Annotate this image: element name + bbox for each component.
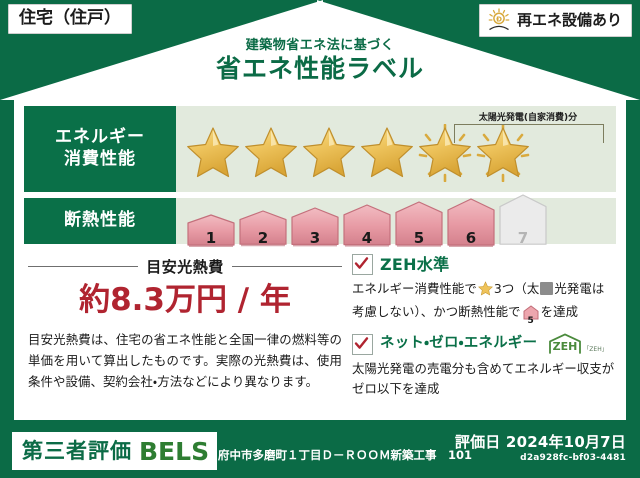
criterion-net-zero-energy: ネット・ゼロ・エネルギー ZEH 「ZEH」 太陽光発電の売電分も含めてエネルギ…	[352, 333, 616, 399]
insulation-level-achieved: 6	[446, 198, 496, 248]
cost-rule-right	[232, 266, 342, 268]
criteria-column: ZEH水準 エネルギー消費性能で 3つ（太光発電は考慮しない）、かつ断熱性能で …	[342, 254, 616, 406]
lower-section: 目安光熱費 約8.3万円 / 年 目安光熱費は、住宅の省エネ性能と全国一律の燃料…	[24, 254, 616, 406]
zeh-desc-star-text: 3つ（太	[494, 281, 539, 296]
inline-star-icon	[478, 281, 493, 302]
pv-bracket-label: 太陽光発電(自家消費)分	[452, 110, 604, 123]
energy-performance-row: エネルギー 消費性能 太陽光発電(自家消費)分	[24, 106, 616, 192]
insulation-level-achieved: 4	[342, 204, 392, 248]
energy-performance-label: エネルギー 消費性能	[24, 106, 176, 192]
footer: 第三者評価 BELS 府中市多磨町１丁目Ｄ－ＲＯＯＭ新築工事 101 評価日 2…	[0, 426, 640, 478]
insulation-level-number: 3	[290, 231, 340, 246]
evaluation-id: d2a928fc-bf03-4481	[455, 453, 626, 464]
star-filled	[242, 124, 300, 182]
energy-performance-stars-area: 太陽光発電(自家消費)分	[176, 106, 616, 192]
checkbox-net-zero-energy[interactable]	[352, 334, 373, 355]
bels-plate: 第三者評価 BELS	[12, 432, 217, 470]
energy-cost-column: 目安光熱費 約8.3万円 / 年 目安光熱費は、住宅の省エネ性能と全国一律の燃料…	[24, 254, 342, 406]
energy-cost-heading: 目安光熱費	[28, 256, 342, 277]
criterion-zeh-suijun-title: ZEH水準	[380, 256, 449, 274]
insulation-level-achieved: 5	[394, 201, 444, 248]
bels-logo: BELS	[139, 439, 209, 464]
star-filled	[358, 124, 416, 182]
insulation-performance-row: 断熱性能 1234567	[24, 198, 616, 244]
zeh-desc-part3: を達成	[541, 304, 578, 319]
title-main: 省エネ性能ラベル	[0, 55, 640, 84]
sun-icon: Ð	[486, 8, 512, 32]
insulation-level-achieved: 2	[238, 210, 288, 247]
energy-cost-note: 目安光熱費は、住宅の省エネ性能と全国一律の燃料等の単価を用いて算出したものです。…	[28, 329, 342, 393]
inline-house-level: 5	[523, 317, 539, 326]
star-filled	[300, 124, 358, 182]
insulation-level-achieved: 1	[186, 214, 236, 248]
evaluation-info: 評価日 2024年10月7日 d2a928fc-bf03-4481	[455, 434, 626, 464]
svg-text:Ð: Ð	[496, 15, 502, 23]
insulation-level-number: 2	[238, 231, 288, 246]
star-pv	[474, 124, 532, 182]
redacted-text-block	[540, 282, 553, 295]
zeh-logo-trademark: 「ZEH」	[583, 344, 607, 353]
inline-house-badge: 5	[523, 305, 539, 326]
renewable-energy-badge: Ð 再エネ設備あり	[479, 4, 632, 37]
energy-label-line2: 消費性能	[64, 149, 136, 169]
insulation-level-achieved: 3	[290, 207, 340, 247]
energy-label-line1: エネルギー	[55, 127, 145, 147]
criterion-zeh-suijun-header: ZEH水準	[352, 254, 616, 275]
title-subtitle: 建築物省エネ法に基づく	[0, 38, 640, 54]
label-title: 建築物省エネ法に基づく 省エネ性能ラベル	[0, 38, 640, 83]
insulation-performance-scale-area: 1234567	[176, 198, 616, 244]
star-rating	[184, 124, 532, 182]
property-address: 府中市多磨町１丁目Ｄ－ＲＯＯＭ新築工事 101	[218, 447, 472, 463]
zeh-desc-part1: エネルギー消費性能で	[352, 281, 477, 296]
criterion-zeh-suijun: ZEH水準 エネルギー消費性能で 3つ（太光発電は考慮しない）、かつ断熱性能で …	[352, 254, 616, 326]
main-panel: エネルギー 消費性能 太陽光発電(自家消費)分 断熱性能 1234567	[14, 98, 626, 420]
zeh-logo-icon: ZEH 「ZEH」	[548, 333, 607, 355]
energy-cost-value: 約8.3万円 / 年	[28, 281, 342, 320]
house-type-badge: 住宅（住戸）	[8, 4, 132, 34]
insulation-level-number: 1	[186, 231, 236, 246]
energy-performance-label: 住宅（住戸） Ð 再エネ設備あり 建築物省エネ法に基づく 省エネ	[0, 0, 640, 478]
criterion-net-zero-energy-description: 太陽光発電の売電分も含めてエネルギー収支がゼロ以下を達成	[352, 359, 616, 399]
insulation-performance-label: 断熱性能	[24, 198, 176, 244]
renewable-energy-badge-label: 再エネ設備あり	[517, 12, 622, 29]
criterion-net-zero-energy-title: ネット・ゼロ・エネルギー	[380, 336, 537, 352]
insulation-level-unachieved: 7	[498, 194, 548, 247]
insulation-level-number: 6	[446, 231, 496, 246]
star-pv	[416, 124, 474, 182]
star-filled	[184, 124, 242, 182]
insulation-scale: 1234567	[186, 194, 548, 247]
criterion-net-zero-energy-header: ネット・ゼロ・エネルギー ZEH 「ZEH」	[352, 333, 616, 355]
insulation-level-number: 4	[342, 231, 392, 246]
svg-text:ZEH: ZEH	[553, 340, 578, 353]
checkbox-zeh-suijun[interactable]	[352, 254, 373, 275]
criterion-zeh-suijun-description: エネルギー消費性能で 3つ（太光発電は考慮しない）、かつ断熱性能で 5を達成	[352, 279, 616, 326]
third-party-evaluation-label: 第三者評価	[22, 441, 132, 462]
cost-rule-left	[28, 266, 138, 268]
insulation-level-number: 5	[394, 231, 444, 246]
evaluation-date: 評価日 2024年10月7日	[455, 434, 626, 451]
insulation-level-number: 7	[498, 231, 548, 246]
cost-heading-label: 目安光熱費	[146, 256, 224, 277]
